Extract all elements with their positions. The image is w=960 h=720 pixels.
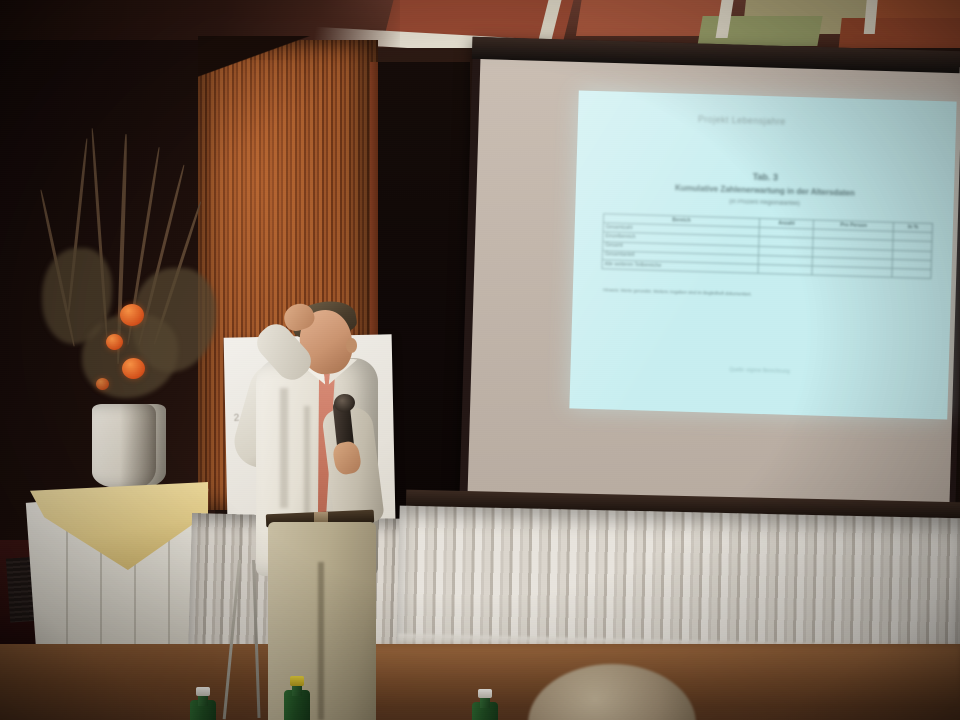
vase-shading [120,404,156,488]
shirt-fold [280,388,288,508]
green-bottle-left [190,688,216,720]
orange-gourd [120,304,144,326]
green-bottle-middle [284,678,310,720]
presenter [222,300,402,720]
flower-arrangement [36,128,226,428]
photo-scene: Projekt Lebensjahre Tab. 3 Kumulative Za… [0,0,960,720]
shirt-fold [304,406,310,516]
trouser-seam [318,562,324,720]
orange-gourd [96,378,109,390]
green-bottle-right [472,690,498,720]
bottle-cap-icon [196,687,210,696]
projected-slide: Projekt Lebensjahre Tab. 3 Kumulative Za… [569,90,956,419]
orange-gourd [106,334,123,350]
bottle-cap-icon [290,676,304,686]
bottle-cap-icon [478,689,492,698]
presenter-ear [346,338,357,353]
slide-glare [569,90,956,419]
curtain-top-shadow [198,36,378,82]
ceiling-panel [838,18,960,52]
orange-gourd [122,358,145,379]
